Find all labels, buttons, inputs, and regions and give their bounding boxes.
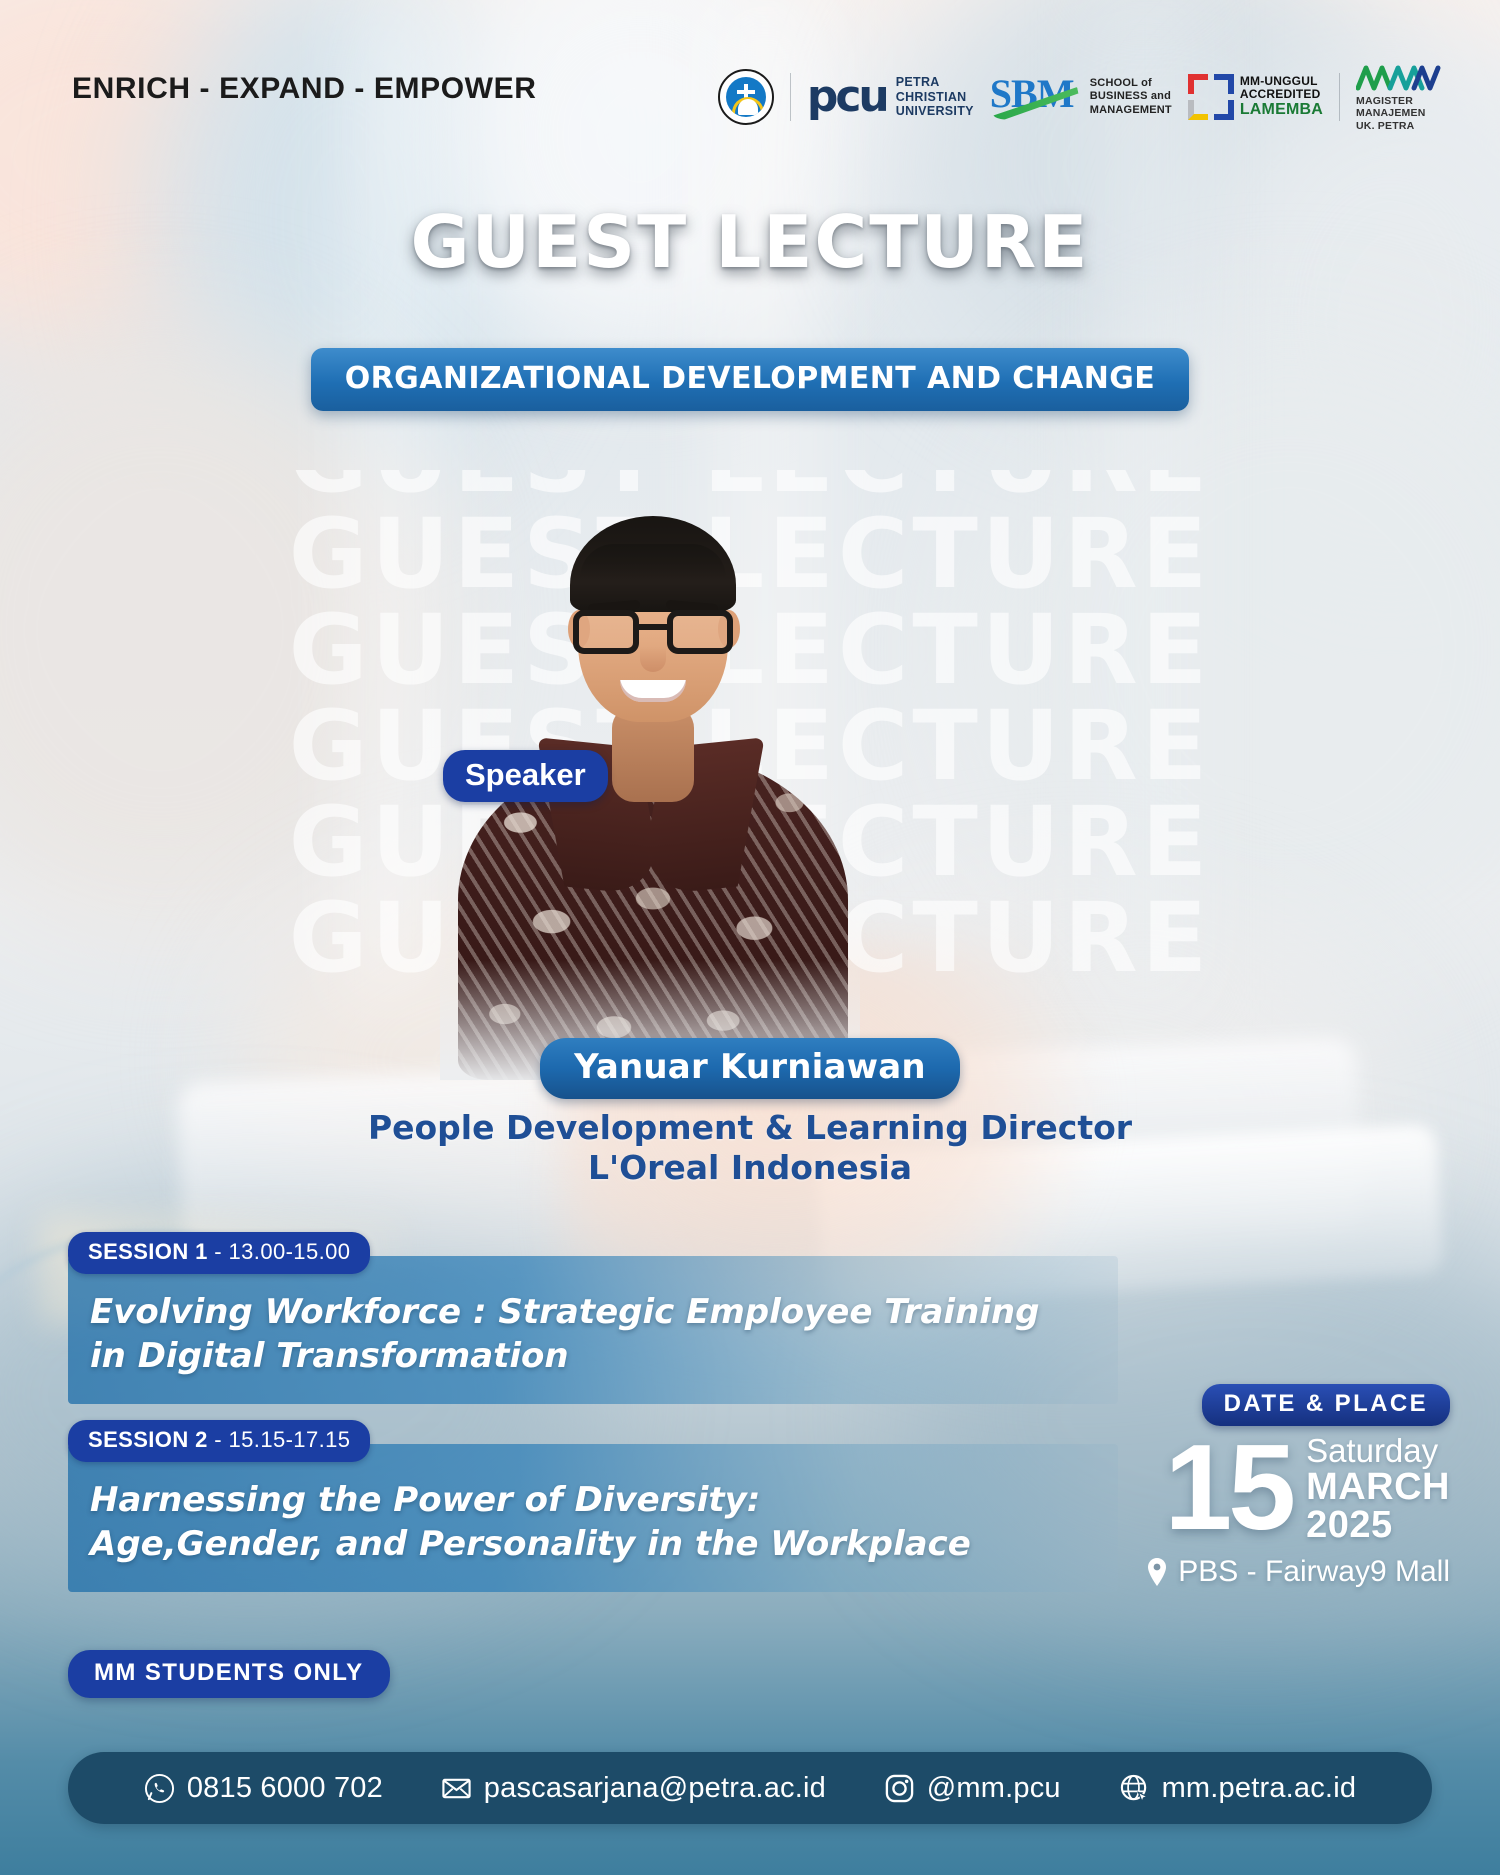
pcu-line2: CHRISTIAN <box>896 90 974 105</box>
session-2-time: 15.15-17.15 <box>229 1427 351 1452</box>
session-1-title-line2: in Digital Transformation <box>90 1334 1084 1378</box>
lamemba-logo: MM-UNGGUL ACCREDITED LAMEMBA <box>1188 74 1323 120</box>
contact-bar: 0815 6000 702 pascasarjana@petra.ac.id @… <box>68 1752 1432 1824</box>
contact-whatsapp[interactable]: 0815 6000 702 <box>144 1772 383 1805</box>
speaker-role-line2: L'Oreal Indonesia <box>0 1148 1500 1188</box>
session-1-chip: SESSION 1 - 13.00-15.00 <box>68 1232 370 1274</box>
poster-canvas: GUEST LECTURE GUEST LECTURE GUEST LECTUR… <box>0 0 1500 1875</box>
whatsapp-icon <box>144 1773 175 1804</box>
wave-icon <box>1356 62 1442 92</box>
event-weekday: Saturday <box>1306 1434 1450 1468</box>
logo-divider <box>790 73 791 121</box>
logo-strip: pcu PETRA CHRISTIAN UNIVERSITY SBM SCHOO… <box>718 58 1442 136</box>
sbm-line3: MANAGEMENT <box>1090 104 1172 117</box>
pcu-wordmark-icon: pcu <box>807 75 887 119</box>
instagram-icon <box>884 1773 915 1804</box>
session-1-panel: Evolving Workforce : Strategic Employee … <box>68 1256 1118 1404</box>
event-year: 2025 <box>1306 1506 1450 1545</box>
session-1-time: 13.00-15.00 <box>229 1239 351 1264</box>
session-2-title-line1: Harnessing the Power of Diversity: <box>90 1478 1084 1522</box>
sbm-mark-icon: SBM <box>990 74 1082 120</box>
session-2-title-line2: Age,Gender, and Personality in the Workp… <box>90 1522 1084 1566</box>
session-1-label: SESSION 1 <box>88 1239 208 1264</box>
event-venue-row: PBS - Fairway9 Mall <box>1050 1555 1450 1589</box>
pcu-logo: pcu PETRA CHRISTIAN UNIVERSITY <box>807 75 974 119</box>
page-title: GUEST LECTURE <box>0 200 1500 284</box>
session-2-separator: - <box>208 1427 229 1452</box>
contact-instagram[interactable]: @mm.pcu <box>884 1772 1061 1805</box>
lamemba-line3: LAMEMBA <box>1240 101 1323 118</box>
session-block-1: SESSION 1 - 13.00-15.00 Evolving Workfor… <box>68 1232 1118 1404</box>
speaker-name: Yanuar Kurniawan <box>540 1038 960 1099</box>
event-venue: PBS - Fairway9 Mall <box>1178 1555 1450 1589</box>
subtitle-banner: ORGANIZATIONAL DEVELOPMENT AND CHANGE <box>311 348 1189 411</box>
contact-website-value: mm.petra.ac.id <box>1162 1772 1357 1805</box>
location-pin-icon <box>1146 1557 1168 1587</box>
petra-seal-logo <box>718 69 774 125</box>
session-1-title-line1: Evolving Workforce : Strategic Employee … <box>90 1290 1084 1334</box>
magister-manajemen-logo: MAGISTER MANAJEMEN UK. PETRA <box>1356 62 1442 132</box>
speaker-name-wrap: Yanuar Kurniawan <box>0 1038 1500 1099</box>
speaker-role: People Development & Learning Director L… <box>0 1108 1500 1189</box>
lamemba-line2: ACCREDITED <box>1240 88 1323 101</box>
session-1-separator: - <box>208 1239 229 1264</box>
event-day: 15 <box>1164 1431 1292 1543</box>
pcu-line3: UNIVERSITY <box>896 104 974 119</box>
pcu-line1: PETRA <box>896 75 974 90</box>
poster-header: ENRICH - EXPAND - EMPOWER pcu PETRA CHRI… <box>0 0 1500 160</box>
session-2-panel: Harnessing the Power of Diversity: Age,G… <box>68 1444 1118 1592</box>
event-month: MARCH <box>1306 1468 1450 1507</box>
mm-line3: UK. PETRA <box>1356 120 1442 132</box>
speaker-badge: Speaker <box>443 750 608 802</box>
date-place-block: DATE & PLACE 15 Saturday MARCH 2025 PBS … <box>1050 1384 1450 1589</box>
speaker-role-line1: People Development & Learning Director <box>0 1108 1500 1148</box>
tagline: ENRICH - EXPAND - EMPOWER <box>72 72 536 106</box>
contact-email[interactable]: pascasarjana@petra.ac.id <box>441 1772 826 1805</box>
mm-line2: MANAJEMEN <box>1356 107 1442 119</box>
lamemba-mark-icon <box>1188 74 1234 120</box>
logo-divider <box>1339 73 1340 121</box>
session-2-label: SESSION 2 <box>88 1427 208 1452</box>
contact-instagram-value: @mm.pcu <box>927 1772 1061 1805</box>
sbm-line1: SCHOOL of <box>1090 77 1172 90</box>
envelope-icon <box>441 1773 472 1804</box>
contact-email-value: pascasarjana@petra.ac.id <box>484 1772 826 1805</box>
audience-notice-badge: MM STUDENTS ONLY <box>68 1650 390 1698</box>
sbm-line2: BUSINESS and <box>1090 90 1172 103</box>
session-2-chip: SESSION 2 - 15.15-17.15 <box>68 1420 370 1462</box>
sbm-logo: SBM SCHOOL of BUSINESS and MANAGEMENT <box>990 74 1172 120</box>
contact-website[interactable]: mm.petra.ac.id <box>1119 1772 1357 1805</box>
mm-line1: MAGISTER <box>1356 95 1442 107</box>
session-block-2: SESSION 2 - 15.15-17.15 Harnessing the P… <box>68 1420 1118 1592</box>
contact-whatsapp-value: 0815 6000 702 <box>187 1772 383 1805</box>
globe-icon <box>1119 1773 1150 1804</box>
